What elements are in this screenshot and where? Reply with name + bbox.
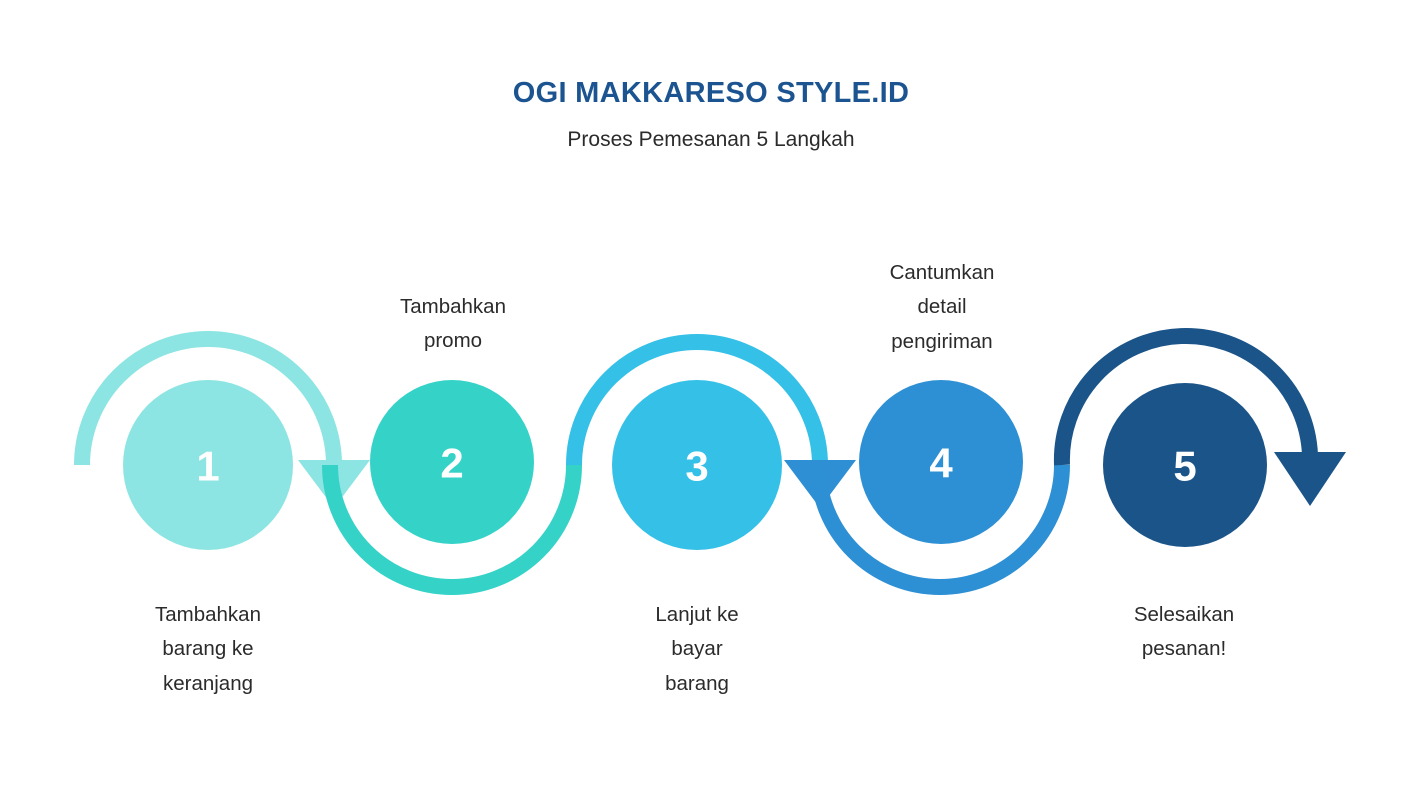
step-caption-1-line-1: Tambahkan [88, 598, 328, 632]
step-caption-1: Tambahkan barang ke keranjang [88, 598, 328, 701]
step-caption-1-line-2: barang ke [88, 632, 328, 666]
step-caption-4-line-2: detail [822, 290, 1062, 324]
step-caption-3-line-3: barang [577, 667, 817, 701]
step-number-1: 1 [196, 443, 219, 490]
step-caption-5-line-2: pesanan! [1064, 632, 1304, 666]
step-number-2: 2 [440, 440, 463, 487]
step-circle-1[interactable]: 1 [123, 380, 293, 550]
step-circle-2[interactable]: 2 [370, 380, 534, 544]
arrow-head-3 [1274, 452, 1346, 506]
step-caption-5: Selesaikan pesanan! [1064, 598, 1304, 667]
step-caption-2-line-1: Tambahkan [333, 290, 573, 324]
step-circle-3[interactable]: 3 [612, 380, 782, 550]
step-caption-2: Tambahkan promo [333, 290, 573, 359]
step-circle-4[interactable]: 4 [859, 380, 1023, 544]
step-caption-1-line-3: keranjang [88, 667, 328, 701]
step-caption-3-line-1: Lanjut ke [577, 598, 817, 632]
step-circle-5[interactable]: 5 [1103, 383, 1267, 547]
step-caption-3-line-2: bayar [577, 632, 817, 666]
step-caption-2-line-2: promo [333, 324, 573, 358]
step-number-5: 5 [1173, 443, 1196, 490]
step-caption-4-line-3: pengiriman [822, 325, 1062, 359]
step-caption-4-line-1: Cantumkan [822, 256, 1062, 290]
infographic-canvas: OGI MAKKARESO STYLE.ID Proses Pemesanan … [0, 0, 1422, 800]
step-number-3: 3 [685, 443, 708, 490]
step-caption-4: Cantumkan detail pengiriman [822, 256, 1062, 359]
step-caption-3: Lanjut ke bayar barang [577, 598, 817, 701]
step-caption-5-line-1: Selesaikan [1064, 598, 1304, 632]
step-number-4: 4 [929, 440, 953, 487]
